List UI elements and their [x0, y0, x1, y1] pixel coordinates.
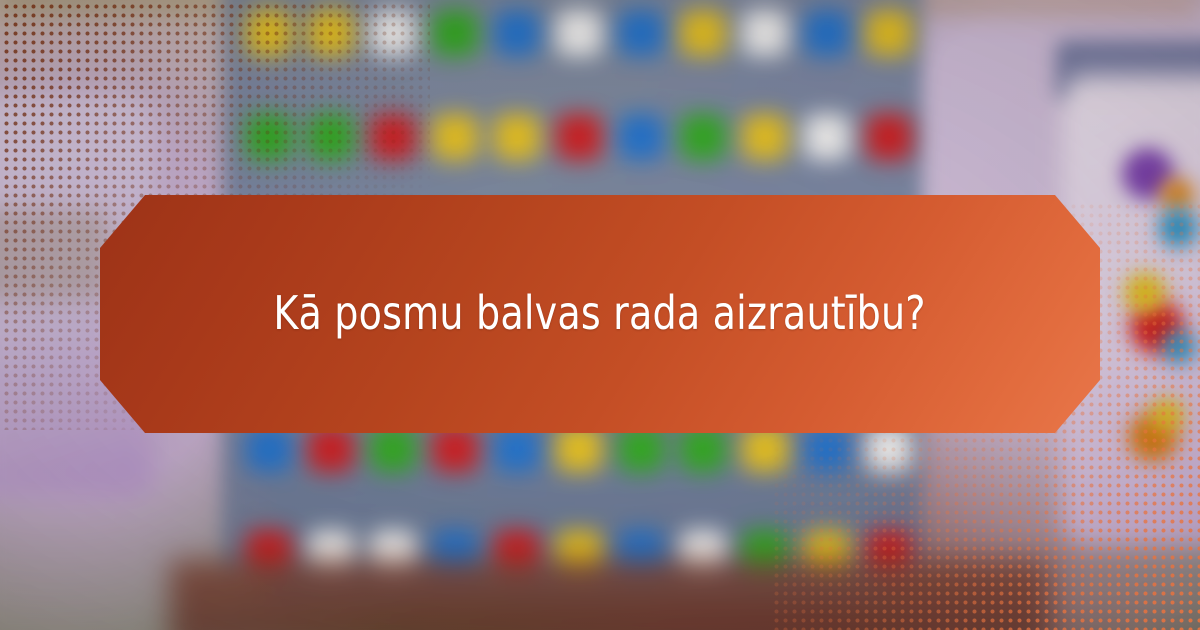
promo-card: Kā posmu balvas rada aizrautību?: [0, 0, 1200, 630]
title-banner: Kā posmu balvas rada aizrautību?: [100, 195, 1100, 433]
page-title: Kā posmu balvas rada aizrautību?: [230, 288, 971, 340]
